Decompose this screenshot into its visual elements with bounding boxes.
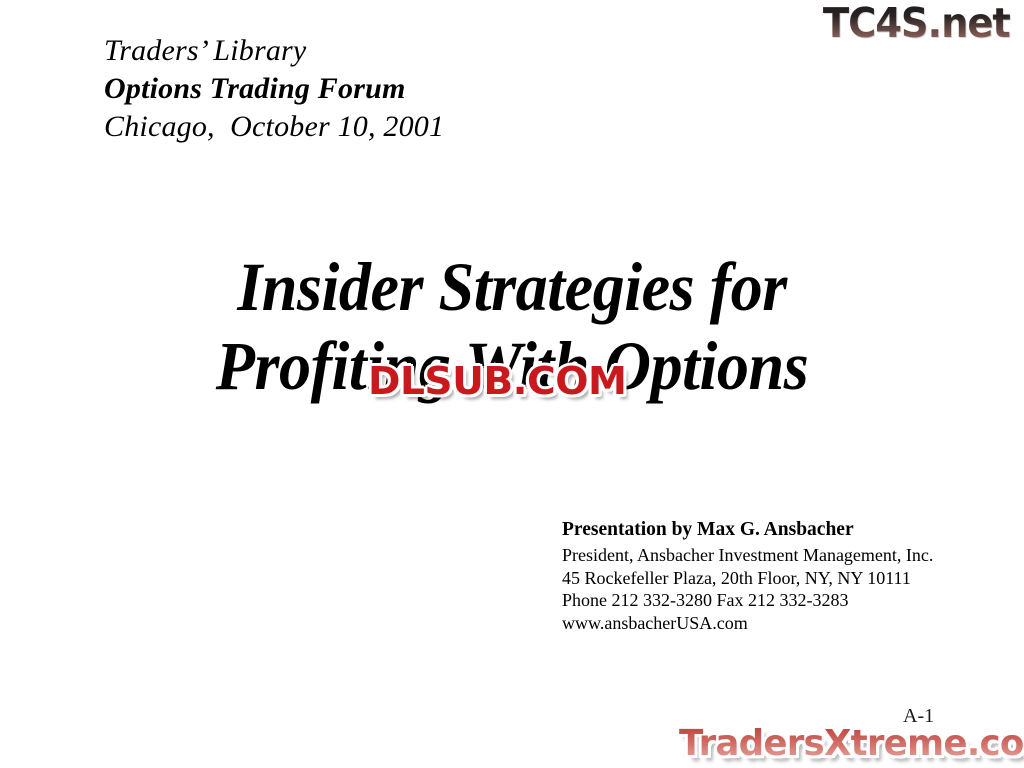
presentation-slide: Traders’ Library Options Trading Forum C… [0,0,1024,768]
event-header: Traders’ Library Options Trading Forum C… [104,32,664,146]
title-line-1: Insider Strategies for [36,248,988,327]
presenter-phone-fax: Phone 212 332-3280 Fax 212 332-3283 [562,589,982,612]
tradersxtreme-watermark-fill: TradersXtreme.com [679,723,1024,764]
event-location-date-line: Chicago, October 10, 2001 [104,108,664,146]
presenter-website: www.ansbacherUSA.com [562,612,982,635]
presenter-info-block: Presentation by Max G. Ansbacher Preside… [562,517,982,634]
presenter-title-company: President, Ansbacher Investment Manageme… [562,544,982,567]
event-name-line: Options Trading Forum [104,70,664,108]
presenter-headline: Presentation by Max G. Ansbacher [562,517,982,544]
tradersxtreme-watermark: TradersXtreme.com TradersXtreme.com [679,723,1024,765]
tc4s-logo-watermark: TC4S.net [823,1,1010,45]
dlsub-watermark: DLSUB.COM [368,359,626,403]
presenter-address: 45 Rockefeller Plaza, 20th Floor, NY, NY… [562,567,982,590]
event-organizer-line: Traders’ Library [104,32,664,70]
